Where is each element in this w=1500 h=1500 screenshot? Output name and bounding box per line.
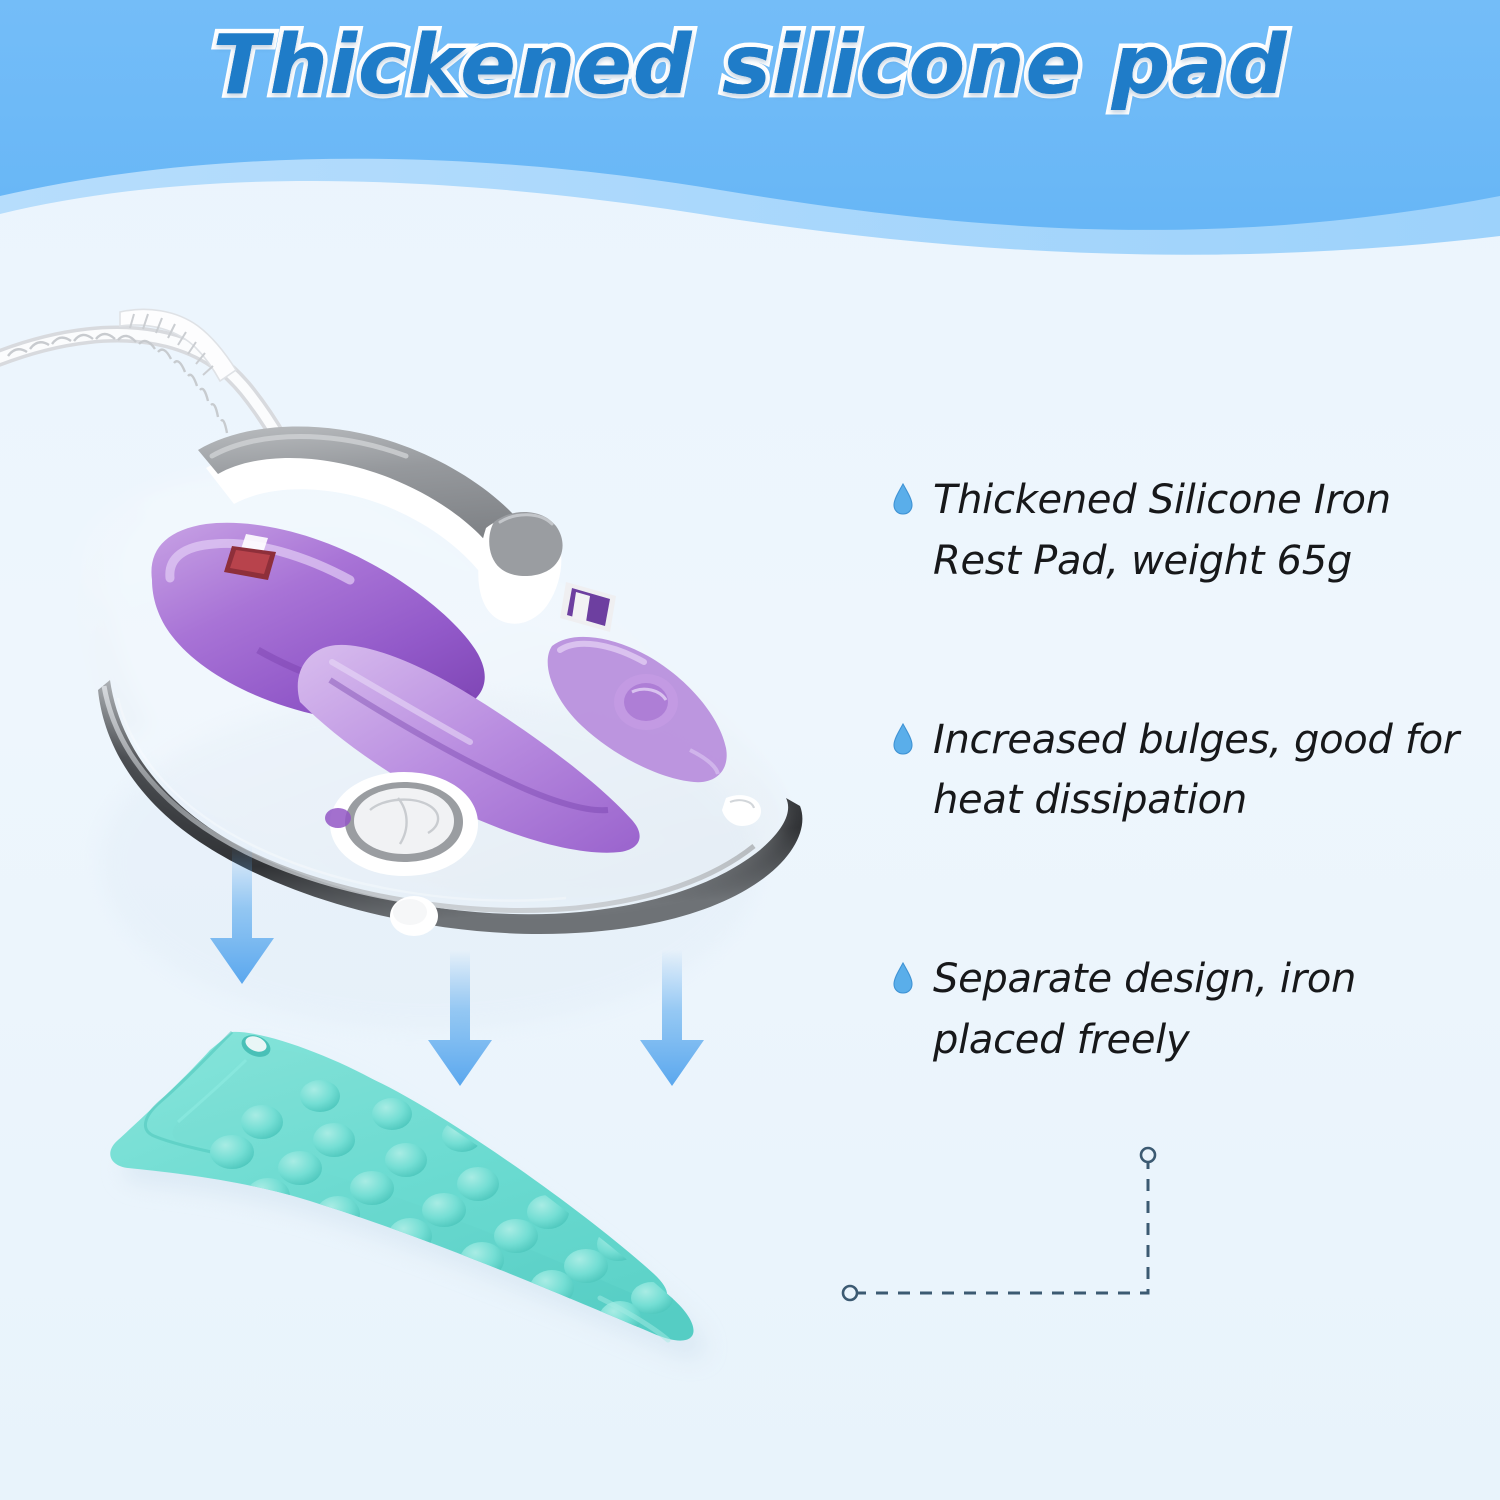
list-item: Increased bulges, good for heat dissipat…	[893, 710, 1483, 832]
silicone-pad-graphic	[110, 1031, 705, 1384]
list-item: Separate design, iron placed freely	[893, 949, 1483, 1071]
water-drop-icon	[893, 723, 913, 755]
page-title: Thickened silicone pad	[0, 18, 1500, 113]
iron-temperature-dial[interactable]	[330, 772, 478, 876]
water-drop-icon	[893, 962, 913, 994]
callout-endpoint-top	[1141, 1148, 1155, 1162]
callout-endpoint-left	[843, 1286, 857, 1300]
infographic-stage: Thickened silicone pad Thickened silicon…	[0, 0, 1500, 1500]
water-drop-icon	[893, 483, 913, 515]
list-item: Thickened Silicone Iron Rest Pad, weight…	[893, 470, 1483, 592]
product-illustration	[0, 250, 900, 1410]
iron-spray-button[interactable]	[390, 896, 438, 936]
iron-power-cord	[0, 309, 280, 440]
feature-text: Thickened Silicone Iron Rest Pad, weight…	[933, 470, 1478, 592]
iron-tank-nub	[325, 808, 351, 828]
feature-list: Thickened Silicone Iron Rest Pad, weight…	[893, 470, 1483, 1071]
dimension-callout	[830, 1130, 1210, 1310]
feature-text: Increased bulges, good for heat dissipat…	[933, 710, 1478, 832]
callout-dashed-line	[854, 1160, 1148, 1293]
header-banner: Thickened silicone pad Thickened silicon…	[0, 0, 1500, 262]
steam-iron-graphic	[0, 309, 802, 1030]
feature-text: Separate design, iron placed freely	[933, 949, 1478, 1071]
